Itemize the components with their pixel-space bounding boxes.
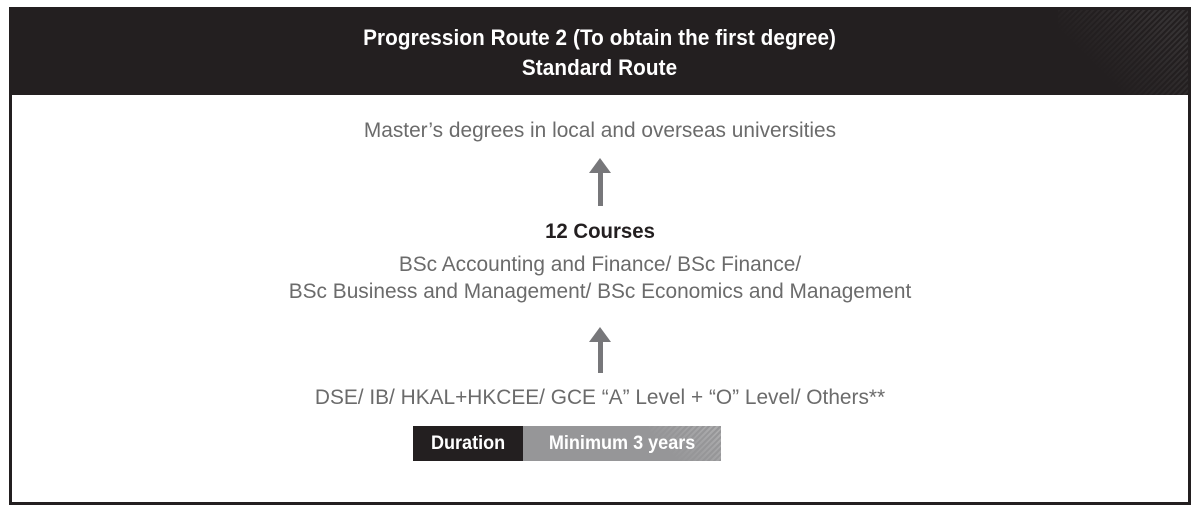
figure-header-banner: Progression Route 2 (To obtain the first…	[12, 10, 1188, 95]
flow-node-entry-qualifications: DSE/ IB/ HKAL+HKCEE/ GCE “A” Level + “O”…	[30, 384, 1171, 412]
flow-node-entry-qualifications-label: DSE/ IB/ HKAL+HKCEE/ GCE “A” Level + “O”…	[30, 384, 1171, 412]
duration-badge-label-text: Duration	[431, 433, 505, 455]
figure-title-line-1: Progression Route 2 (To obtain the first…	[364, 23, 837, 52]
progression-route-figure: Progression Route 2 (To obtain the first…	[9, 7, 1191, 505]
duration-badge-value-text: Minimum 3 years	[549, 433, 695, 455]
flow-node-masters-degrees-label: Master’s degrees in local and overseas u…	[30, 117, 1171, 145]
duration-badge-value: Minimum 3 years	[523, 426, 721, 461]
courses-count-heading: 12 Courses	[30, 219, 1171, 246]
arrow-up-icon-lower	[588, 327, 612, 373]
duration-badge-label: Duration	[413, 426, 523, 461]
figure-title-line-2: Standard Route	[364, 53, 837, 82]
duration-badge: Duration Minimum 3 years	[413, 426, 721, 461]
degree-programmes-line-2: BSc Business and Management/ BSc Economi…	[30, 278, 1171, 306]
arrow-stem	[598, 173, 603, 206]
arrow-up-icon-upper	[588, 158, 612, 206]
flow-node-masters-degrees: Master’s degrees in local and overseas u…	[30, 117, 1171, 145]
arrow-stem	[598, 342, 603, 373]
figure-body: Master’s degrees in local and overseas u…	[12, 95, 1188, 502]
flow-node-bachelor-degrees: 12 Courses BSc Accounting and Finance/ B…	[30, 219, 1171, 306]
figure-title: Progression Route 2 (To obtain the first…	[364, 23, 837, 81]
degree-programmes-line-1: BSc Accounting and Finance/ BSc Finance/	[30, 251, 1171, 279]
arrow-head	[589, 327, 611, 342]
arrow-head	[589, 158, 611, 173]
diagonal-stripes-decoration	[1058, 10, 1188, 95]
